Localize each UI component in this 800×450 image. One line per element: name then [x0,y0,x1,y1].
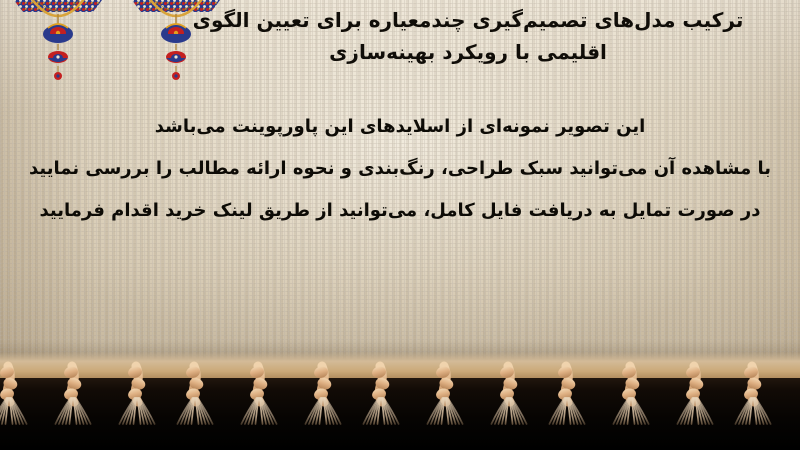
slide-title: ترکیب مدل‌های تصمیم‌گیری چندمعیاره برای … [160,4,776,68]
presentation-slide: ترکیب مدل‌های تصمیم‌گیری چندمعیاره برای … [0,0,800,450]
slide-body-line-2: با مشاهده آن می‌توانید سبک طراحی، رنگ‌بن… [20,148,780,190]
slide-title-line-2: اقلیمی با رویکرد بهینه‌سازی [160,36,776,68]
carpet-fringe [0,352,800,450]
fringe-tassels-icon [0,352,800,450]
slide-title-line-1: ترکیب مدل‌های تصمیم‌گیری چندمعیاره برای … [160,4,776,36]
slide-body: این تصویر نمونه‌ای از اسلایدهای این پاور… [20,106,780,232]
slide-body-line-1: این تصویر نمونه‌ای از اسلایدهای این پاور… [20,106,780,148]
slide-body-line-3: در صورت تمایل به دریافت فایل کامل، می‌تو… [20,190,780,232]
